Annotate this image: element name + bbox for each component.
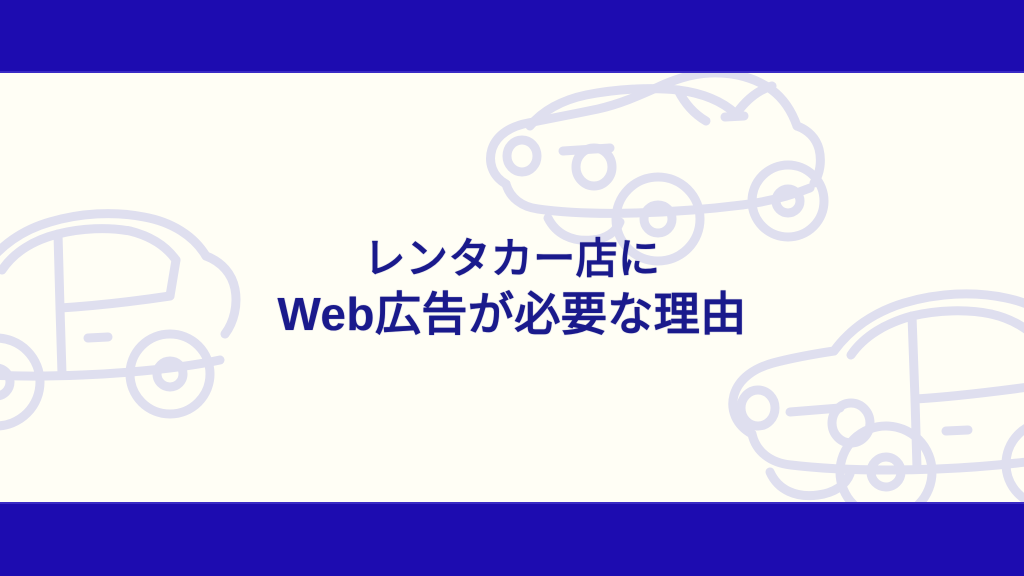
title-line-2: Web広告が必要な理由: [277, 286, 746, 344]
top-band-divider: [0, 71, 1024, 73]
bottom-blue-band: [0, 504, 1024, 576]
bottom-band-divider: [0, 502, 1024, 504]
title-slide: レンタカー店に Web広告が必要な理由: [0, 0, 1024, 576]
top-blue-band: [0, 0, 1024, 71]
title-line-1: レンタカー店に: [364, 233, 661, 286]
slide-title: レンタカー店に Web広告が必要な理由: [0, 0, 1024, 576]
